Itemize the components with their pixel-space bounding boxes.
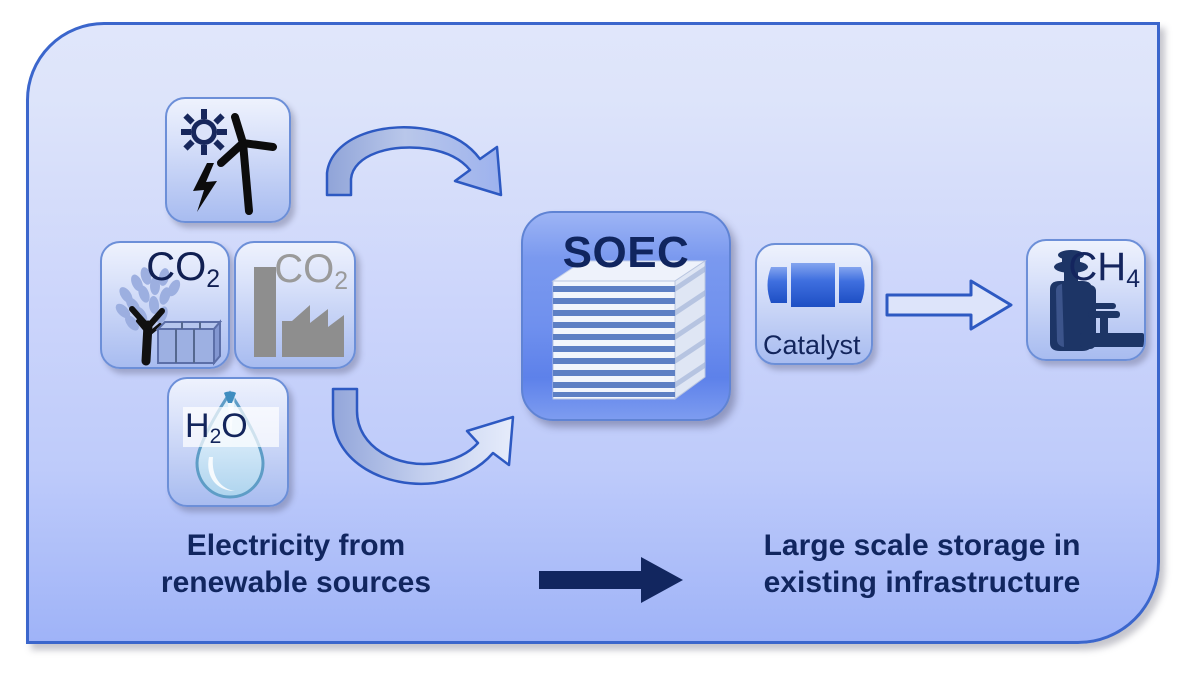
tile-water[interactable]: H2O bbox=[167, 377, 289, 507]
tile-industrial-co2-label: CO2 bbox=[274, 249, 348, 295]
caption-storage: Large scale storage in existing infrastr… bbox=[707, 528, 1137, 601]
diagram-panel: CO2 CO2 bbox=[26, 22, 1160, 644]
sun-wind-turbine-lightning-icon bbox=[167, 99, 291, 223]
soec-module[interactable]: SOEC bbox=[521, 211, 731, 421]
tile-water-label: H2O bbox=[185, 409, 248, 447]
arrow-catalyst-to-methane bbox=[885, 277, 1015, 333]
tile-methane-label: CH4 bbox=[1068, 247, 1140, 293]
cell-stack-icon bbox=[547, 259, 711, 409]
tile-industrial-co2[interactable]: CO2 bbox=[234, 241, 356, 369]
arrow-electricity-to-soec bbox=[325, 121, 525, 221]
caption-electricity: Electricity from renewable sources bbox=[121, 528, 471, 601]
arrow-feedstock-to-soec bbox=[331, 385, 531, 495]
soec-label: SOEC bbox=[523, 231, 729, 275]
arrow-captions bbox=[537, 553, 687, 607]
tile-catalyst[interactable]: Catalyst bbox=[755, 243, 873, 365]
tile-catalyst-label: Catalyst bbox=[763, 332, 861, 359]
figure-canvas: CO2 CO2 bbox=[0, 0, 1200, 687]
tile-biomass-co2[interactable]: CO2 bbox=[100, 241, 230, 369]
tile-methane[interactable]: CH4 bbox=[1026, 239, 1146, 361]
tile-biomass-co2-label: CO2 bbox=[146, 247, 220, 293]
reactor-cylinder-icon bbox=[757, 245, 873, 325]
tile-renewables[interactable] bbox=[165, 97, 291, 223]
